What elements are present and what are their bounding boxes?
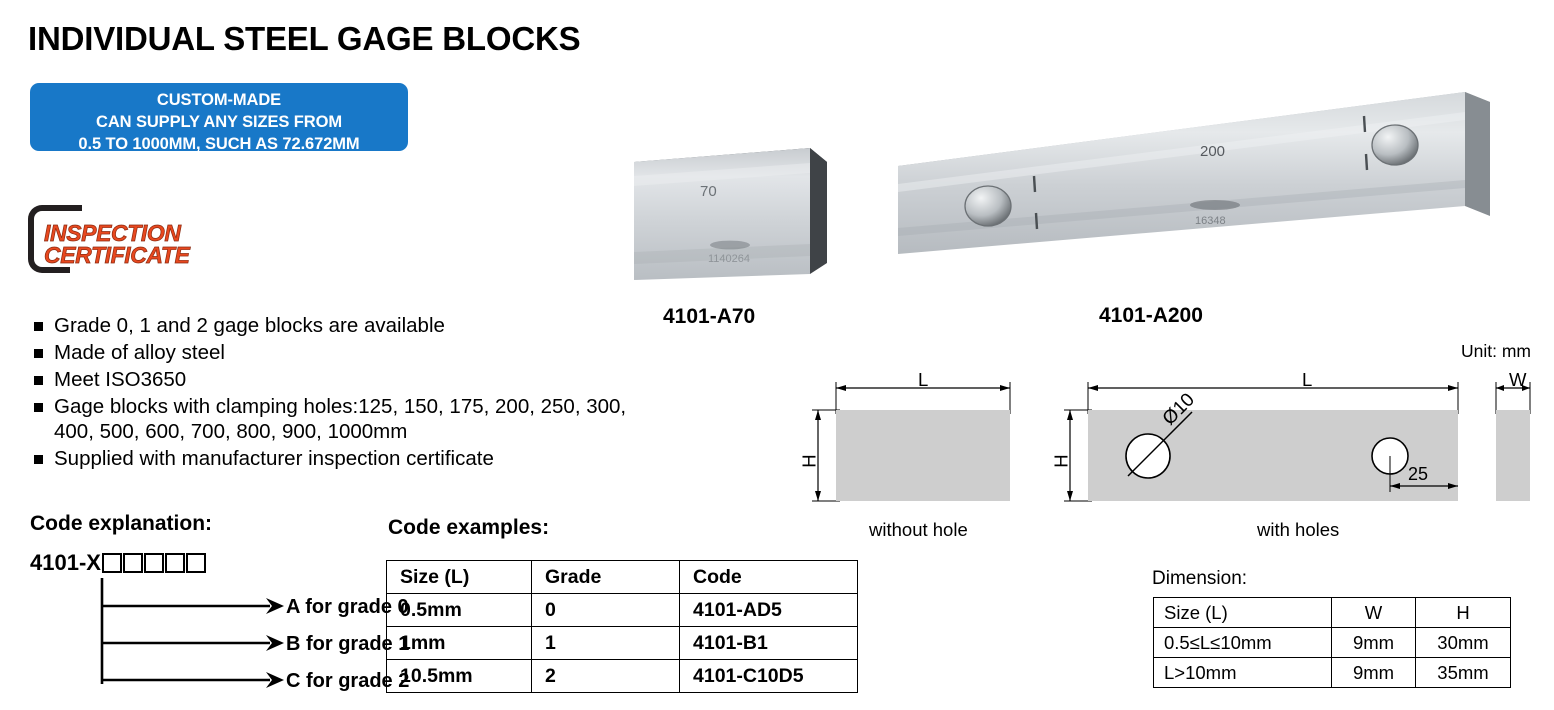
badge-line-3: 0.5 TO 1000MM, SUCH AS 72.672MM <box>30 134 408 156</box>
column-header-size: Size (L) <box>387 561 532 594</box>
cell-size: 10.5mm <box>387 660 532 693</box>
square-bullet-icon <box>34 455 43 464</box>
dim-label-width: W <box>1509 369 1526 391</box>
table-row: L>10mm 9mm 35mm <box>1154 658 1511 688</box>
inspection-certificate-logo: INSPECTION CERTIFICATE <box>28 205 258 277</box>
table-header-row: Size (L) W H <box>1154 598 1511 628</box>
certificate-logo-line-2: CERTIFICATE <box>44 244 190 266</box>
table-header-row: Size (L) Grade Code <box>387 561 858 594</box>
table-row: 0.5≤L≤10mm 9mm 30mm <box>1154 628 1511 658</box>
cell-w: 9mm <box>1332 628 1416 658</box>
column-header-size: Size (L) <box>1154 598 1332 628</box>
code-pattern-box <box>186 553 206 573</box>
code-pattern-box <box>123 553 143 573</box>
cell-grade: 2 <box>532 660 680 693</box>
cell-code: 4101-AD5 <box>680 594 858 627</box>
dimension-table: Size (L) W H 0.5≤L≤10mm 9mm 30mm L>10mm … <box>1153 597 1511 688</box>
drawing-caption-with-holes: with holes <box>1257 519 1339 541</box>
cell-code: 4101-B1 <box>680 627 858 660</box>
code-pattern-box <box>102 553 122 573</box>
certificate-logo-text: INSPECTION CERTIFICATE <box>44 222 190 267</box>
column-header-w: W <box>1332 598 1416 628</box>
cell-size: 1mm <box>387 627 532 660</box>
product-photo-gage-block-a200: 200 16348 <box>890 88 1510 293</box>
engraved-serial-label: 1140264 <box>708 253 750 265</box>
code-pattern-box <box>165 553 185 573</box>
list-item: Grade 0, 1 and 2 gage blocks are availab… <box>30 313 630 338</box>
cell-grade: 0 <box>532 594 680 627</box>
dim-label-length-left: L <box>918 369 928 391</box>
drawing-caption-without-hole: without hole <box>869 519 968 541</box>
list-item: Gage blocks with clamping holes:125, 150… <box>30 394 630 444</box>
badge-line-2: CAN SUPPLY ANY SIZES FROM <box>30 112 408 134</box>
badge-line-1: CUSTOM-MADE <box>30 90 408 112</box>
list-item: Meet ISO3650 <box>30 367 630 392</box>
code-examples-table: Size (L) Grade Code 0.5mm 0 4101-AD5 1mm… <box>386 560 858 693</box>
custom-made-badge: CUSTOM-MADE CAN SUPPLY ANY SIZES FROM 0.… <box>30 83 408 151</box>
certificate-logo-line-1: INSPECTION <box>44 222 190 244</box>
cell-grade: 1 <box>532 627 680 660</box>
code-explanation-arrows: A for grade 0 B for grade 1 C for grade … <box>98 578 358 693</box>
technical-drawing-with-holes: 25 Ø10 <box>1060 368 1480 513</box>
square-bullet-icon <box>34 349 43 358</box>
cell-w: 9mm <box>1332 658 1416 688</box>
product-photo-gage-block-a70: 70 1140264 <box>628 140 843 295</box>
photo-caption-a200: 4101-A200 <box>1099 304 1203 328</box>
column-header-h: H <box>1416 598 1511 628</box>
square-bullet-icon <box>34 403 43 412</box>
feature-text: Made of alloy steel <box>54 340 225 365</box>
column-header-grade: Grade <box>532 561 680 594</box>
cell-h: 30mm <box>1416 628 1511 658</box>
photo-caption-a70: 4101-A70 <box>663 305 755 329</box>
feature-text: Supplied with manufacturer inspection ce… <box>54 446 494 471</box>
dim-label-height-right: H <box>1051 454 1073 467</box>
dim-label-height-left: H <box>799 454 821 467</box>
cell-size: 0.5mm <box>387 594 532 627</box>
cell-code: 4101-C10D5 <box>680 660 858 693</box>
code-pattern-prefix: 4101-X <box>30 550 101 576</box>
cell-h: 35mm <box>1416 658 1511 688</box>
feature-text: Gage blocks with clamping holes:125, 150… <box>54 394 630 444</box>
feature-text: Meet ISO3650 <box>54 367 186 392</box>
square-bullet-icon <box>34 376 43 385</box>
cell-size: L>10mm <box>1154 658 1332 688</box>
dim-label-length-right: L <box>1302 369 1312 391</box>
feature-list: Grade 0, 1 and 2 gage blocks are availab… <box>30 313 630 473</box>
table-row: 0.5mm 0 4101-AD5 <box>387 594 858 627</box>
engraved-size-label: 70 <box>700 183 717 200</box>
code-examples-title: Code examples: <box>388 516 549 540</box>
cell-size: 0.5≤L≤10mm <box>1154 628 1332 658</box>
engraved-serial-label: 16348 <box>1195 215 1226 227</box>
column-header-code: Code <box>680 561 858 594</box>
feature-text: Grade 0, 1 and 2 gage blocks are availab… <box>54 313 445 338</box>
page-title: INDIVIDUAL STEEL GAGE BLOCKS <box>28 20 580 58</box>
datasheet-page: INDIVIDUAL STEEL GAGE BLOCKS CUSTOM-MADE… <box>0 0 1554 710</box>
unit-label: Unit: mm <box>1461 341 1531 362</box>
table-row: 10.5mm 2 4101-C10D5 <box>387 660 858 693</box>
code-pattern-box <box>144 553 164 573</box>
square-bullet-icon <box>34 322 43 331</box>
engraved-size-label: 200 <box>1200 143 1225 160</box>
list-item: Made of alloy steel <box>30 340 630 365</box>
code-explanation-title: Code explanation: <box>30 512 212 536</box>
dim-label-edge-distance: 25 <box>1408 464 1428 484</box>
code-pattern: 4101-X <box>30 550 206 576</box>
table-row: 1mm 1 4101-B1 <box>387 627 858 660</box>
dimension-table-title: Dimension: <box>1152 568 1247 590</box>
list-item: Supplied with manufacturer inspection ce… <box>30 446 630 471</box>
